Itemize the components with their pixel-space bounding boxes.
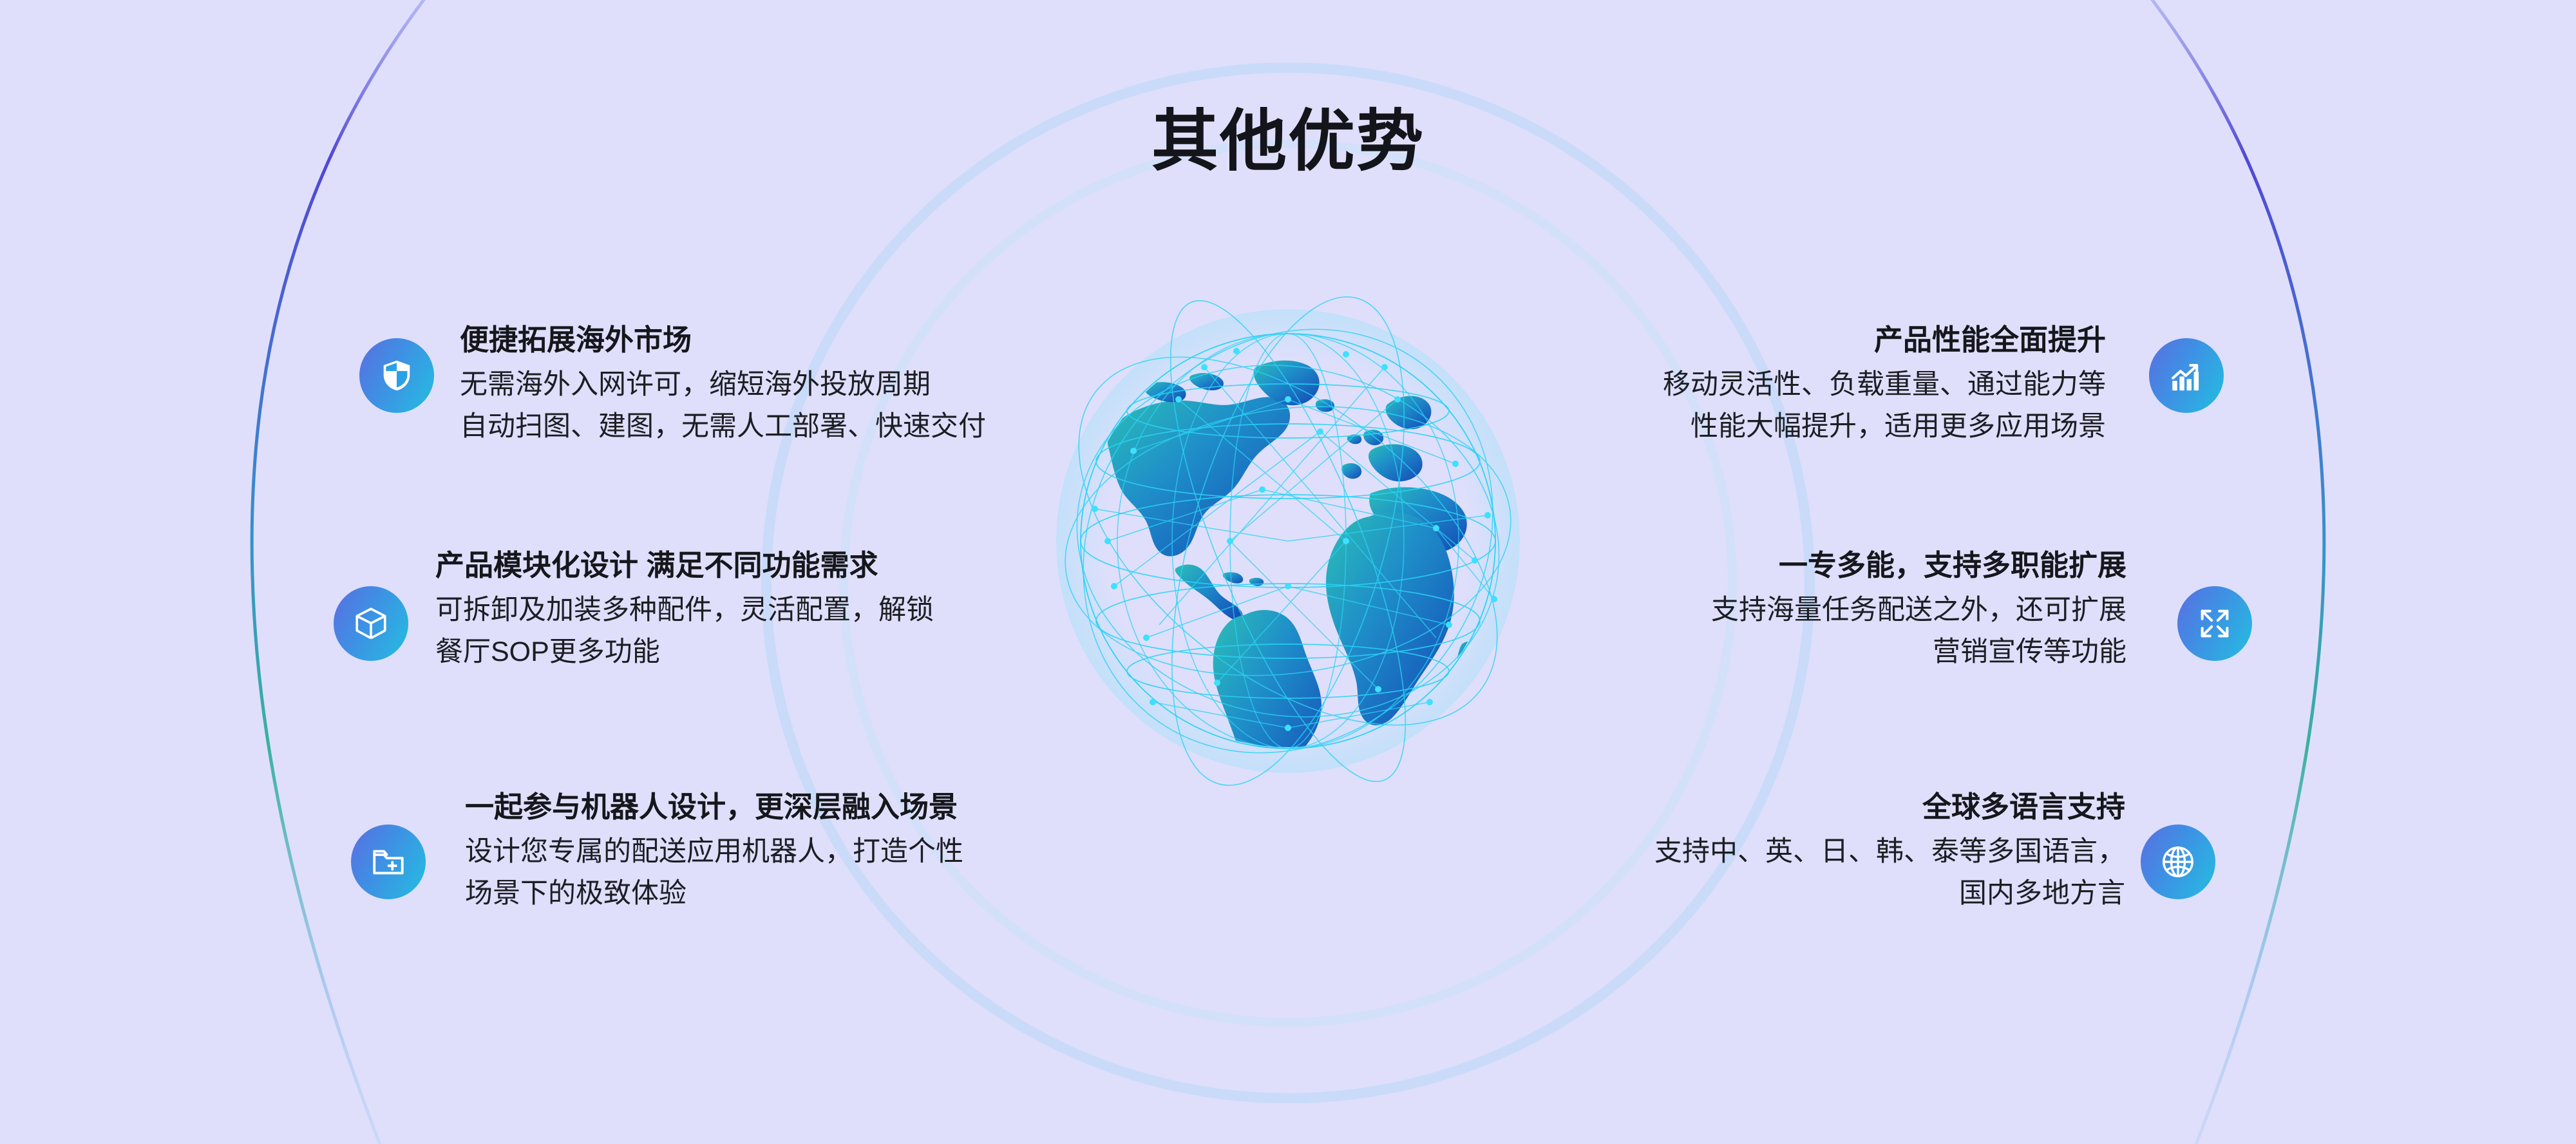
feature-line: 支持中、英、日、韩、泰等多国语言， [1654, 838, 2125, 866]
feature-line: 移动灵活性、负载重量、通过能力等 [1663, 371, 2106, 399]
feature-line: 自动扫图、建图，无需人工部署、快速交付 [460, 413, 986, 441]
globe-icon-badge[interactable] [2141, 825, 2215, 899]
feature-block-right-1: 产品性能全面提升 移动灵活性、负载重量、通过能力等 性能大幅提升，适用更多应用场… [1663, 325, 2106, 441]
feature-title: 便捷拓展海外市场 [460, 325, 986, 354]
feature-block-left-1: 便捷拓展海外市场 无需海外入网许可，缩短海外投放周期 自动扫图、建图，无需人工部… [460, 325, 986, 441]
feature-line: 性能大幅提升，适用更多应用场景 [1663, 413, 2106, 441]
feature-line: 无需海外入网许可，缩短海外投放周期 [460, 371, 986, 399]
feature-title: 产品性能全面提升 [1663, 325, 2106, 354]
feature-line: 设计您专属的配送应用机器人，打造个性 [465, 838, 963, 866]
page-title: 其他优势 [0, 108, 2576, 175]
feature-line: 国内多地方言 [1654, 880, 2125, 908]
feature-title: 一起参与机器人设计，更深层融入场景 [465, 792, 963, 821]
shield-icon [378, 357, 415, 394]
feature-block-right-2: 一专多能，支持多职能扩展 支持海量任务配送之外，还可扩展 营销宣传等功能 [1711, 551, 2126, 666]
feature-block-right-3: 全球多语言支持 支持中、英、日、韩、泰等多国语言， 国内多地方言 [1654, 792, 2125, 908]
globe-svg [985, 238, 1591, 844]
cube-icon-badge[interactable] [334, 586, 408, 661]
feature-line: 可拆卸及加装多种配件，灵活配置，解锁 [435, 596, 934, 624]
shield-icon-badge[interactable] [359, 338, 434, 413]
feature-line: 餐厅SOP更多功能 [435, 638, 934, 666]
feature-block-left-3: 一起参与机器人设计，更深层融入场景 设计您专属的配送应用机器人，打造个性 场景下… [465, 792, 963, 908]
expand-arrows-icon [2196, 605, 2233, 642]
feature-block-left-2: 产品模块化设计 满足不同功能需求 可拆卸及加装多种配件，灵活配置，解锁 餐厅SO… [435, 551, 934, 666]
folder-plus-icon [370, 843, 407, 881]
infographic-stage: 其他优势 [0, 0, 2576, 1144]
feature-title: 产品模块化设计 满足不同功能需求 [435, 551, 934, 580]
expand-arrows-icon-badge[interactable] [2177, 586, 2252, 661]
globe-icon [2159, 843, 2197, 881]
chart-up-icon-badge[interactable] [2149, 338, 2224, 413]
folder-plus-icon-badge[interactable] [351, 825, 426, 899]
feature-title: 一专多能，支持多职能扩展 [1711, 551, 2126, 580]
feature-line: 支持海量任务配送之外，还可扩展 [1711, 596, 2126, 624]
feature-title: 全球多语言支持 [1654, 792, 2125, 821]
feature-line: 场景下的极致体验 [465, 880, 963, 908]
cube-icon [352, 605, 390, 642]
world-globe-network-graphic [985, 238, 1591, 844]
chart-up-icon [2168, 357, 2205, 394]
feature-line: 营销宣传等功能 [1711, 638, 2126, 666]
